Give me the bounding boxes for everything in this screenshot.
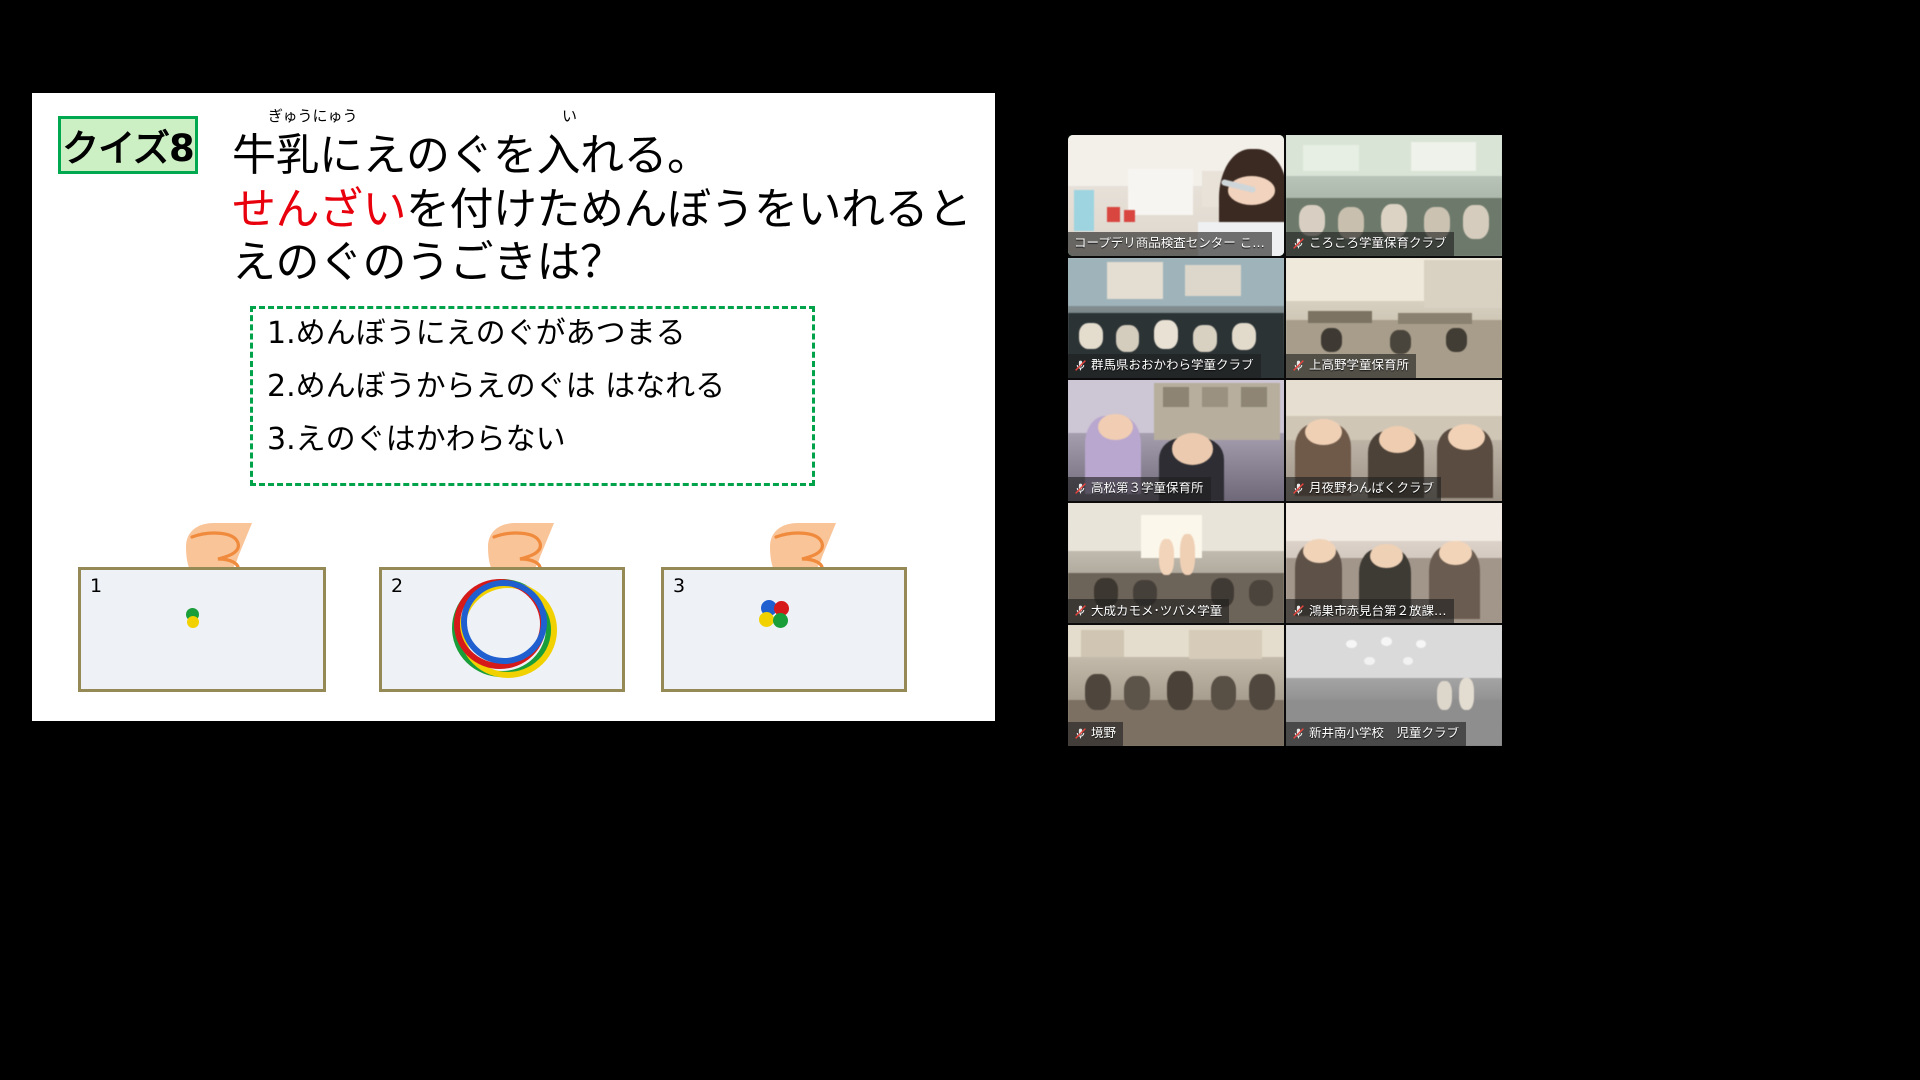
participant-name-bar-2: ころころ学童保育クラブ bbox=[1286, 232, 1454, 256]
participant-name-2: ころころ学童保育クラブ bbox=[1309, 237, 1447, 250]
answer-option-2: 2.めんぼうからえのぐは はなれる bbox=[267, 372, 812, 402]
mic-muted-icon-7 bbox=[1074, 604, 1087, 617]
mic-muted-icon-3 bbox=[1074, 359, 1087, 372]
panel-number-1: 1 bbox=[90, 575, 102, 597]
zoom-tile-2[interactable]: ころころ学童保育クラブ bbox=[1286, 135, 1502, 256]
furigana-i: い bbox=[562, 109, 577, 124]
quiz-badge-label: クイズ8 bbox=[62, 118, 194, 172]
zoom-tile-9[interactable]: 境野 bbox=[1068, 625, 1284, 746]
question-line-1: 牛乳にえのぐを入れる。 bbox=[232, 129, 972, 183]
participant-name-bar-1: コープデリ商品検査センター こ… bbox=[1068, 232, 1272, 256]
answer-option-3: 3.えのぐはかわらない bbox=[267, 425, 812, 455]
question-block: ぎゅうにゅう い 牛乳にえのぐを入れる。 せんざいを付けためんぼうをいれると え… bbox=[232, 109, 972, 290]
paint-dot-yellow-1 bbox=[187, 616, 199, 628]
mic-muted-icon-2 bbox=[1292, 237, 1305, 250]
zoom-tile-8[interactable]: 鴻巣市赤見台第２放課… bbox=[1286, 503, 1502, 624]
participant-name-6: 月夜野わんぱくクラブ bbox=[1309, 482, 1434, 495]
paint-ring-graphic bbox=[416, 572, 606, 692]
mic-muted-icon-10 bbox=[1292, 727, 1305, 740]
participant-name-1: コープデリ商品検査センター こ… bbox=[1074, 237, 1265, 250]
participant-name-5: 高松第３学童保育所 bbox=[1091, 482, 1204, 495]
participant-name-bar-9: 境野 bbox=[1068, 722, 1123, 746]
participant-name-10: 新井南小学校 児童クラブ bbox=[1309, 727, 1459, 740]
quiz-number-badge: クイズ8 bbox=[58, 116, 198, 174]
participant-name-9: 境野 bbox=[1091, 727, 1116, 740]
mic-muted-icon-9 bbox=[1074, 727, 1087, 740]
zoom-tile-6[interactable]: 月夜野わんぱくクラブ bbox=[1286, 380, 1502, 501]
participant-name-3: 群馬県おおかわら学童クラブ bbox=[1091, 359, 1254, 372]
question-line-2-rest: を付けためんぼうをいれると bbox=[406, 184, 972, 235]
mic-muted-icon-4 bbox=[1292, 359, 1305, 372]
participant-name-bar-6: 月夜野わんぱくクラブ bbox=[1286, 477, 1441, 501]
participant-name-7: 大成カモメ･ツバメ学童 bbox=[1091, 605, 1222, 618]
presentation-slide: クイズ8 ぎゅうにゅう い 牛乳にえのぐを入れる。 せんざいを付けためんぼうをい… bbox=[32, 93, 995, 721]
participant-name-bar-5: 高松第３学童保育所 bbox=[1068, 477, 1211, 501]
question-keyword-senzai: せんざい bbox=[232, 184, 406, 235]
paint-dot-yellow-3 bbox=[759, 612, 774, 627]
zoom-tile-10[interactable]: 新井南小学校 児童クラブ bbox=[1286, 625, 1502, 746]
zoom-tile-3[interactable]: 群馬県おおかわら学童クラブ bbox=[1068, 258, 1284, 379]
participant-name-8: 鴻巣市赤見台第２放課… bbox=[1309, 605, 1447, 618]
panel-number-3: 3 bbox=[673, 575, 685, 597]
illustration-panel-1: 1 bbox=[78, 567, 326, 692]
mic-muted-icon-5 bbox=[1074, 482, 1087, 495]
furigana-gyunyu: ぎゅうにゅう bbox=[268, 109, 358, 124]
paint-dot-green-3 bbox=[773, 613, 788, 628]
answer-option-1: 1.めんぼうにえのぐがあつまる bbox=[267, 319, 812, 349]
participant-name-bar-4: 上高野学童保育所 bbox=[1286, 354, 1416, 378]
mic-muted-icon-6 bbox=[1292, 482, 1305, 495]
mic-muted-icon-8 bbox=[1292, 604, 1305, 617]
participant-name-bar-3: 群馬県おおかわら学童クラブ bbox=[1068, 354, 1261, 378]
zoom-tile-7[interactable]: 大成カモメ･ツバメ学童 bbox=[1068, 503, 1284, 624]
furigana-row: ぎゅうにゅう い bbox=[232, 109, 972, 129]
participant-name-bar-7: 大成カモメ･ツバメ学童 bbox=[1068, 599, 1229, 623]
answer-options-box: 1.めんぼうにえのぐがあつまる 2.めんぼうからえのぐは はなれる 3.えのぐは… bbox=[250, 306, 815, 486]
zoom-tile-4[interactable]: 上高野学童保育所 bbox=[1286, 258, 1502, 379]
illustration-panels: 1 2 3 bbox=[32, 493, 995, 721]
zoom-participant-grid: コープデリ商品検査センター こ… ころころ学童保育クラブ bbox=[1068, 135, 1502, 746]
participant-name-4: 上高野学童保育所 bbox=[1309, 359, 1409, 372]
question-line-3: えのぐのうごきは？ bbox=[232, 236, 972, 290]
zoom-tile-5[interactable]: 高松第３学童保育所 bbox=[1068, 380, 1284, 501]
zoom-tile-1[interactable]: コープデリ商品検査センター こ… bbox=[1068, 135, 1284, 256]
participant-name-bar-10: 新井南小学校 児童クラブ bbox=[1286, 722, 1466, 746]
panel-number-2: 2 bbox=[391, 575, 403, 597]
illustration-panel-3: 3 bbox=[661, 567, 907, 692]
illustration-panel-2: 2 bbox=[379, 567, 625, 692]
participant-name-bar-8: 鴻巣市赤見台第２放課… bbox=[1286, 599, 1454, 623]
question-line-2: せんざいを付けためんぼうをいれると bbox=[232, 183, 972, 237]
